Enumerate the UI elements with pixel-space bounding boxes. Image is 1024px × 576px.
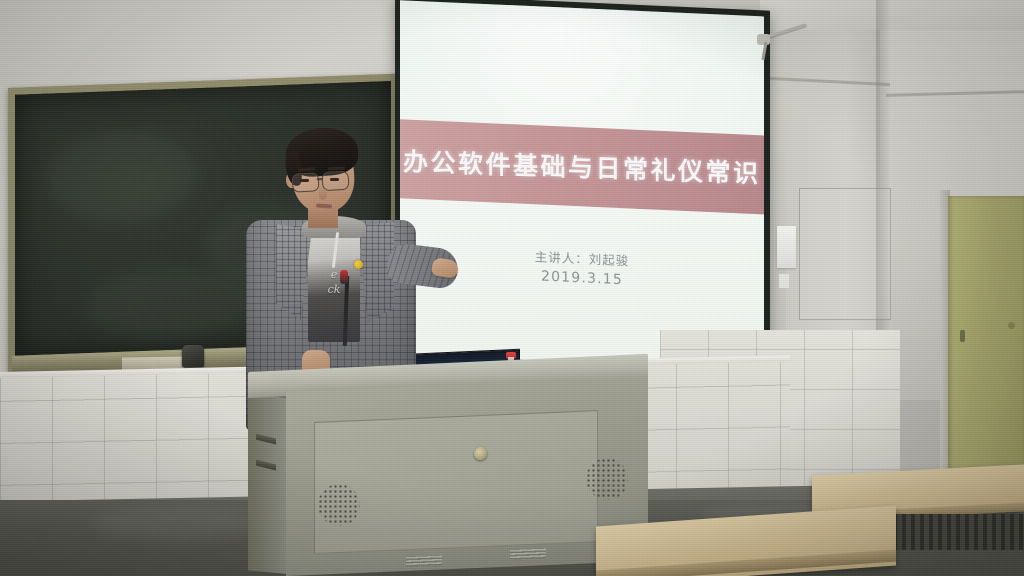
speaker-grille-right [586, 458, 628, 500]
screen-mount-bracket [757, 20, 809, 42]
door-hinge [960, 330, 965, 342]
presenter-nose [319, 186, 327, 200]
lapel-badge-icon [354, 260, 363, 269]
classroom-door[interactable] [948, 196, 1024, 496]
wall-panel-outline [799, 188, 891, 320]
clip-microphone [340, 270, 348, 284]
lectern-vent-left [406, 555, 442, 567]
door-knob-icon[interactable] [1008, 322, 1015, 329]
lectern[interactable] [248, 366, 648, 576]
lectern-vent-right [510, 548, 546, 560]
lectern-side-panel [248, 395, 288, 574]
lectern-cabinet-door[interactable] [314, 410, 598, 554]
speaker-grille-left [318, 484, 360, 526]
wall-notice-paper-small [779, 274, 789, 288]
classroom-photo: 办公软件基础与日常礼仪常识 主讲人：刘起骏 2019.3.15 [0, 0, 1024, 576]
blackboard-eraser [182, 345, 204, 367]
wall-notice-paper [777, 226, 796, 268]
presenter-eye-left [300, 179, 309, 182]
presenter-eye-right [330, 178, 339, 181]
